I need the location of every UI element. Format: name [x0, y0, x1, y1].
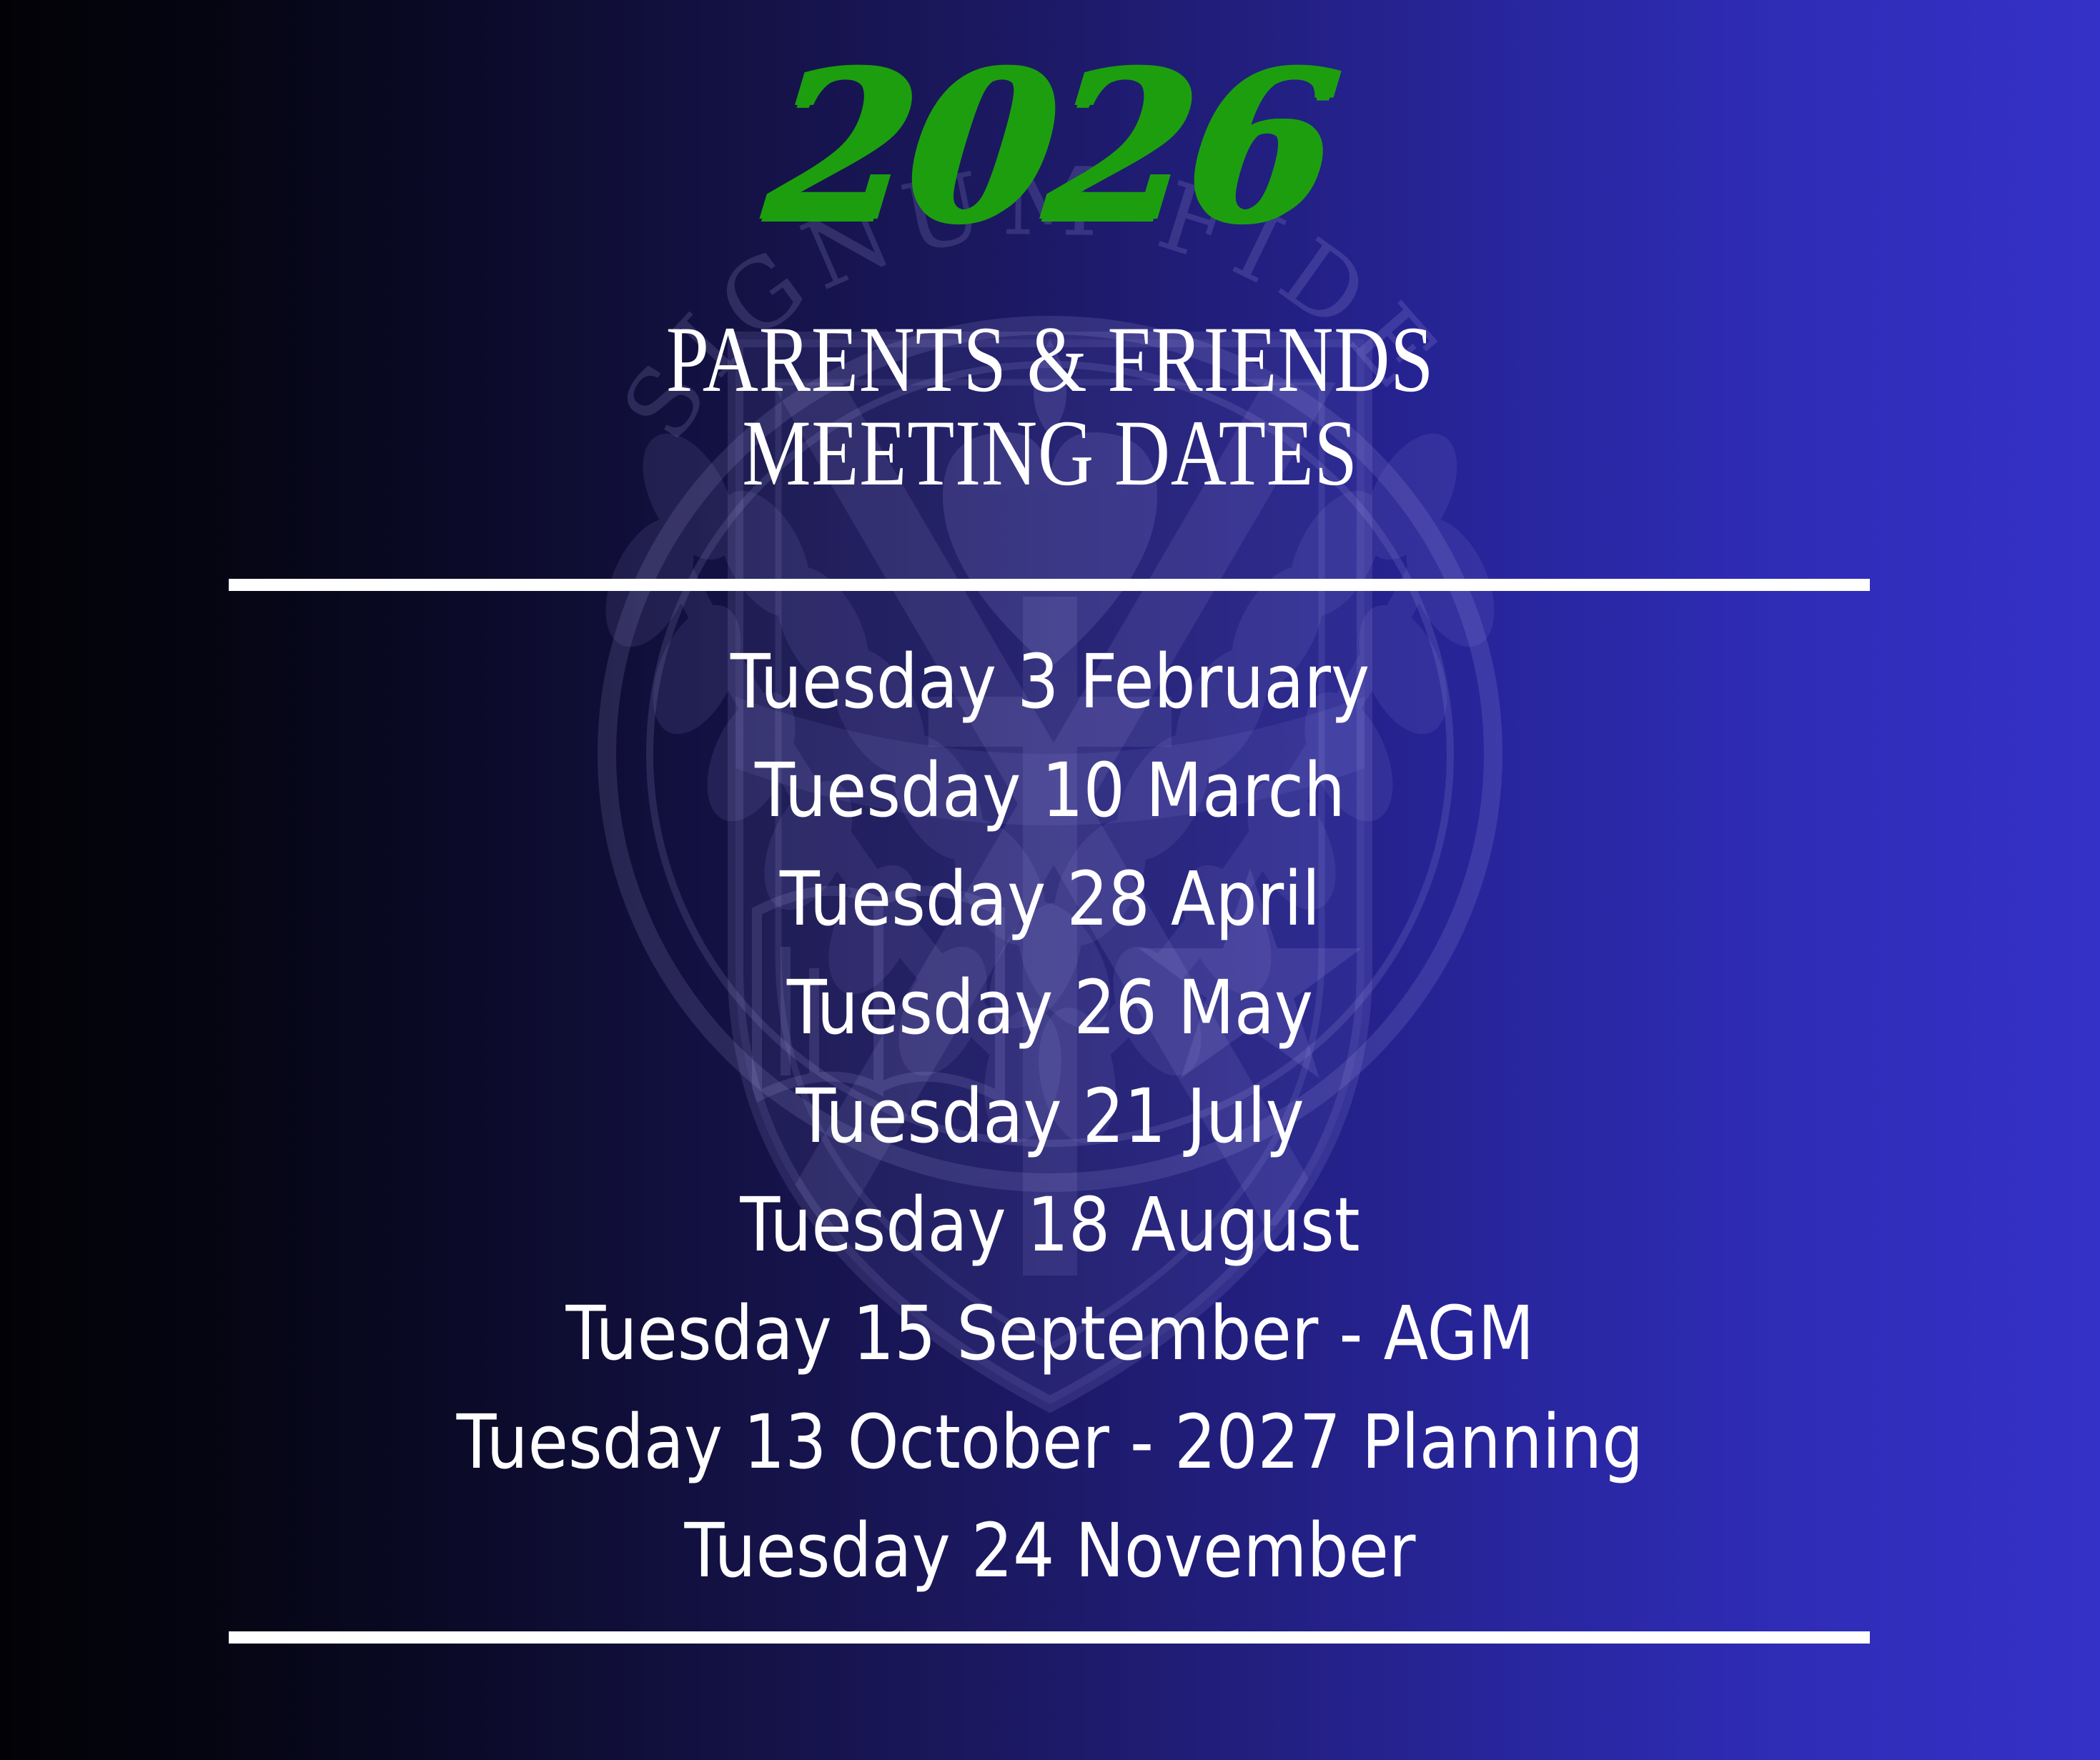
list-item: Tuesday 3 February	[126, 627, 1973, 736]
divider-top	[229, 579, 1870, 591]
list-item: Tuesday 10 March	[126, 736, 1973, 845]
list-item: Tuesday 28 April	[126, 845, 1973, 953]
list-item: Tuesday 24 November	[126, 1496, 1973, 1605]
list-item: Tuesday 21 July	[126, 1062, 1973, 1170]
poster-canvas: SIGNUM FIDEI	[0, 0, 2100, 1760]
list-item: Tuesday 18 August	[126, 1170, 1973, 1279]
page-title-line-1: PARENTS & FRIENDS	[189, 313, 1911, 407]
meeting-dates-list: Tuesday 3 February Tuesday 10 March Tues…	[0, 627, 2100, 1605]
poster-year: 2026	[0, 43, 2100, 250]
page-title: PARENTS & FRIENDS MEETING DATES	[189, 313, 1911, 499]
page-title-line-2: MEETING DATES	[189, 407, 1911, 500]
list-item: Tuesday 15 September - AGM	[126, 1279, 1973, 1388]
list-item: Tuesday 13 October - 2027 Planning	[126, 1388, 1973, 1496]
list-item: Tuesday 26 May	[126, 953, 1973, 1062]
divider-bottom	[229, 1631, 1870, 1644]
